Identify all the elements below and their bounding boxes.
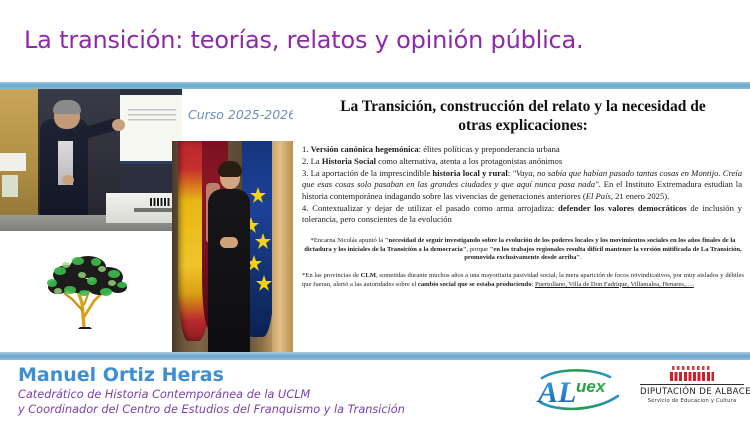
- slide-content-panel: La Transición, construcción del relato y…: [296, 89, 750, 352]
- item-number: 4.: [302, 203, 308, 213]
- slide-title-bar: La transición: teorías, relatos y opinió…: [0, 0, 750, 82]
- content-list: 1. Versión canónica hegemónica: élites p…: [302, 144, 742, 226]
- footnote-bold-1: CLM: [361, 272, 376, 279]
- lecture-object-b: [2, 175, 18, 197]
- diputacion-emblem-icon: [670, 372, 714, 381]
- divider-top: [0, 82, 750, 89]
- item-pre: La: [311, 156, 322, 166]
- woman-figure-hands: [220, 237, 238, 248]
- list-item: 4. Contextualizar y dejar de utilizar el…: [302, 203, 742, 226]
- footnote-places: Puertollano, Villa de Don Fadrique, Vill…: [535, 281, 694, 288]
- divider-bottom: [0, 352, 750, 360]
- item-number: 2.: [302, 156, 308, 166]
- footnote: *Encarna Nicolás apuntó la "necesidad de…: [302, 237, 744, 263]
- item-number: 1.: [302, 144, 308, 154]
- list-item: 1. Versión canónica hegemónica: élites p…: [302, 144, 742, 156]
- footnote-pre: Encarna Nicolás apuntó la: [314, 237, 385, 244]
- diputacion-subtitle: Servicio de Educación y Cultura: [640, 398, 744, 404]
- item-rest: como alternativa, atenta a los protagoni…: [376, 156, 562, 166]
- aluex-logo-icon: AL uex: [536, 368, 632, 412]
- woman-figure-hair: [218, 161, 242, 177]
- speaker-name: Manuel Ortiz Heras: [18, 364, 224, 386]
- speaker-figure-hair: [53, 100, 81, 114]
- speaker-figure-hand-2: [62, 175, 74, 185]
- page-title: La transición: teorías, relatos y opinió…: [24, 26, 584, 54]
- item-bold: Historia Social: [322, 156, 376, 166]
- speaker-banner: Manuel Ortiz Heras Catedrático de Histor…: [0, 360, 750, 422]
- flags-room-door: [272, 141, 293, 352]
- flags-photo: [172, 141, 293, 352]
- aluex-uex-text: uex: [576, 377, 607, 396]
- footnote-bold-2: cambio social que se estaba produciendo: [418, 281, 532, 288]
- diputacion-albacete-logo: DIPUTACIÓN DE ALBACETE Servicio de Educa…: [640, 366, 744, 412]
- course-label: Curso 2025-2026: [188, 107, 293, 122]
- item-bold: historia local y rural: [432, 168, 507, 178]
- olive-tree-icon: [34, 245, 138, 329]
- speaker-role-line-2: y Coordinador del Centro de Estudios del…: [18, 403, 405, 416]
- speaker-figure-hand: [112, 119, 125, 131]
- speaker-role-line-1: Catedrático de Historia Contemporánea de…: [18, 388, 310, 401]
- list-item: 2. La Historia Social como alternativa, …: [302, 156, 742, 168]
- lecture-photo: [0, 89, 182, 231]
- item-number: 3.: [302, 168, 308, 178]
- photo-collage: Curso 2025-2026: [0, 89, 293, 352]
- footnote: *En las provincias de CLM, sometidas dur…: [302, 272, 744, 289]
- course-label-box: Curso 2025-2026: [182, 89, 293, 141]
- aluex-logo: AL uex: [536, 368, 632, 412]
- item-pre: Contextualizar y dejar de utilizar el pa…: [312, 203, 558, 213]
- content-heading-line-2: otras explicaciones:: [458, 117, 588, 134]
- footnote-end: .: [580, 254, 582, 261]
- diputacion-rule: [640, 384, 744, 385]
- item-rest-2: , 21 enero 2025).: [611, 191, 669, 201]
- content-footnotes: *Encarna Nicolás apuntó la "necesidad de…: [302, 237, 744, 290]
- footnote-bold-2: "en los trabajos regionales resulta difí…: [464, 246, 741, 262]
- item-bold: Versión canónica hegemónica: [311, 144, 419, 154]
- diputacion-name: DIPUTACIÓN DE ALBACETE: [640, 387, 744, 397]
- lecture-object-a: [0, 153, 26, 171]
- woman-figure-body: [208, 189, 250, 352]
- presentation-slide: La transición: teorías, relatos y opinió…: [0, 0, 750, 422]
- content-heading-line-1: La Transición, construcción del relato y…: [340, 98, 706, 115]
- diputacion-emblem-top: [672, 366, 712, 370]
- desk-logo-icon: [150, 198, 170, 206]
- tree-illustration: [0, 231, 172, 352]
- content-heading: La Transición, construcción del relato y…: [306, 98, 740, 136]
- item-bold: defender los valores democráticos: [558, 203, 687, 213]
- aluex-al-text: AL: [536, 376, 576, 409]
- projection-screen-text: [128, 109, 176, 123]
- footnote-mid: , porque: [466, 246, 489, 253]
- item-rest: : élites políticas y preponderancia urba…: [419, 144, 560, 154]
- list-item: 3. La aportación de la imprescindible hi…: [302, 168, 742, 203]
- footnote-pre: En las provincias de: [305, 272, 360, 279]
- item-pre: La aportación de la imprescindible: [311, 168, 433, 178]
- item-source: El País: [586, 191, 611, 201]
